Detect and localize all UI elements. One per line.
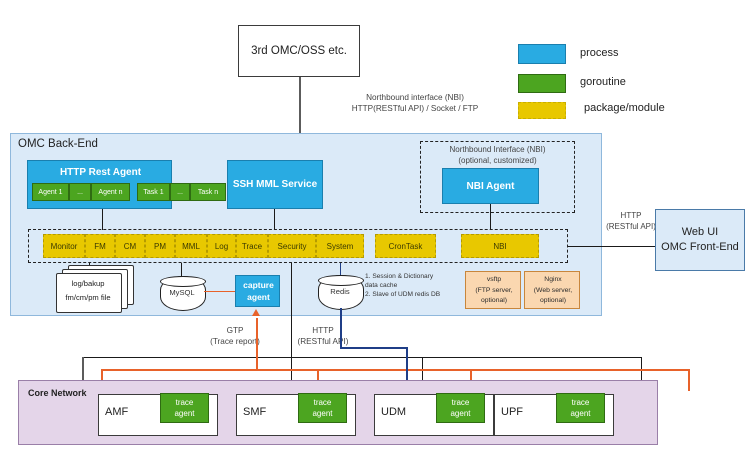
core-node-amf[interactable]: AMF trace agent <box>98 394 218 436</box>
capture-agent-box[interactable]: capture agent <box>235 275 280 307</box>
task-item-2[interactable]: Task n <box>190 183 226 201</box>
legend-label-process: process <box>580 47 619 59</box>
legend-swatch-process <box>518 44 566 64</box>
trace-agent-upf-line1: trace <box>570 397 590 408</box>
third-party-oms-box[interactable]: 3rd OMC/OSS etc. <box>238 25 360 77</box>
gtp-line2: (Trace report) <box>196 336 274 347</box>
nginx-line1: Nginx <box>525 275 581 286</box>
web-ui-line1: Web UI <box>661 225 739 240</box>
module-system[interactable]: System <box>316 234 364 258</box>
core-node-upf[interactable]: UPF trace agent <box>494 394 614 436</box>
redis-note-line3: 2. Slave of UDM redis DB <box>365 290 465 299</box>
mysql-to-capture-line <box>204 291 235 292</box>
trace-agent-udm-line2: agent <box>450 408 470 419</box>
core-node-amf-label: AMF <box>105 406 128 418</box>
logfile-line1: log/bakup <box>56 277 120 291</box>
http-link-line2: (RESTful API) <box>284 336 362 347</box>
core-node-smf-label: SMF <box>243 406 266 418</box>
legend-label-goroutine: goroutine <box>580 76 626 88</box>
nbi-group-caption: Northbound Interface (NBI) (optional, cu… <box>420 144 575 166</box>
trace-agent-udm-line1: trace <box>450 397 470 408</box>
module-mml[interactable]: MML <box>175 234 207 258</box>
trace-agent-smf[interactable]: trace agent <box>298 393 347 423</box>
web-ui-label: Web UI OMC Front-End <box>661 225 739 255</box>
module-nbi[interactable]: NBI <box>461 234 539 258</box>
omc-backend-title: OMC Back-End <box>18 138 98 150</box>
capture-agent-line2: agent <box>236 291 281 303</box>
trace-agent-amf-line1: trace <box>174 397 194 408</box>
nginx-box[interactable]: Nginx (Web server, optional) <box>524 271 580 309</box>
logfile-doc-stack: log/bakup fm/cm/pm file <box>56 265 134 313</box>
system-to-redis-line <box>340 263 341 275</box>
ssh-mml-service-label: SSH MML Service <box>233 179 317 190</box>
backend-trunk-vertical <box>291 263 292 358</box>
vsftp-line3: optional) <box>466 296 522 307</box>
redis-note-line2: data cache <box>365 281 465 290</box>
capture-agent-label: capture agent <box>236 279 281 303</box>
trace-agent-upf[interactable]: trace agent <box>556 393 605 423</box>
web-ui-box[interactable]: Web UI OMC Front-End <box>655 209 745 271</box>
vsftp-line2: (FTP server, <box>466 286 522 297</box>
capture-agent-arrow-stem <box>256 318 258 370</box>
trace-agent-smf-label: trace agent <box>312 397 332 419</box>
vsftp-box[interactable]: vsftp (FTP server, optional) <box>465 271 521 309</box>
http-rest-agent-box[interactable]: HTTP Rest Agent Agent 1 ... Agent n Task… <box>27 160 172 209</box>
task-item-0[interactable]: Task 1 <box>137 183 170 201</box>
gtp-trace-report-label: GTP (Trace report) <box>196 325 274 347</box>
backend-trunk-horizontal <box>82 357 642 358</box>
gtp-line1: GTP <box>196 325 274 336</box>
vsftp-label: vsftp (FTP server, optional) <box>466 275 522 307</box>
module-crontask[interactable]: CronTask <box>375 234 436 258</box>
nbi-agent-to-modules-line <box>490 204 491 230</box>
nbi-label-line2: HTTP(RESTful API) / Socket / FTP <box>300 103 530 114</box>
module-pm[interactable]: PM <box>145 234 175 258</box>
core-network-title: Core Network <box>28 388 87 398</box>
trace-agent-udm[interactable]: trace agent <box>436 393 485 423</box>
module-log[interactable]: Log <box>207 234 236 258</box>
trace-agent-upf-line2: agent <box>570 408 590 419</box>
northbound-interface-label: Northbound interface (NBI) HTTP(RESTful … <box>300 92 530 114</box>
nbi-agent-box[interactable]: NBI Agent <box>442 168 539 204</box>
trace-agent-amf[interactable]: trace agent <box>160 393 209 423</box>
redis-to-udm-horizontal <box>340 347 407 349</box>
module-to-mysql-line <box>181 263 182 276</box>
core-node-udm[interactable]: UDM trace agent <box>374 394 494 436</box>
nbi-label-line1: Northbound interface (NBI) <box>300 92 530 103</box>
nginx-line3: optional) <box>525 296 581 307</box>
task-item-1: ... <box>170 183 190 201</box>
mysql-label: MySQL <box>160 288 204 297</box>
trace-agent-amf-label: trace agent <box>174 397 194 419</box>
agent-item-2[interactable]: Agent n <box>91 183 130 201</box>
module-cm[interactable]: CM <box>115 234 145 258</box>
http-link-line1: HTTP <box>284 325 362 336</box>
ssh-mml-service-box[interactable]: SSH MML Service <box>227 160 323 209</box>
redis-label: Redis <box>318 287 362 296</box>
nbi-group-line2: (optional, customized) <box>420 155 575 166</box>
web-ui-line2: OMC Front-End <box>661 240 739 255</box>
core-node-upf-label: UPF <box>501 406 523 418</box>
trace-agent-upf-label: trace agent <box>570 397 590 419</box>
trace-drop-upf <box>688 369 690 391</box>
capture-agent-line1: capture <box>236 279 281 291</box>
trace-agent-amf-line2: agent <box>174 408 194 419</box>
agent-item-1: ... <box>69 183 91 201</box>
rest-agent-to-modules-line <box>102 209 103 230</box>
module-monitor[interactable]: Monitor <box>43 234 85 258</box>
third-party-oms-label: 3rd OMC/OSS etc. <box>251 45 347 57</box>
nginx-line2: (Web server, <box>525 286 581 297</box>
module-fm[interactable]: FM <box>85 234 115 258</box>
module-security[interactable]: Security <box>268 234 316 258</box>
core-node-smf[interactable]: SMF trace agent <box>236 394 356 436</box>
core-node-udm-label: UDM <box>381 406 406 418</box>
legend-label-module: package/module <box>584 102 665 114</box>
vsftp-line1: vsftp <box>466 275 522 286</box>
redis-note-line1: 1. Session & Dictionary <box>365 272 465 281</box>
trace-agent-smf-line1: trace <box>312 397 332 408</box>
nbi-agent-label: NBI Agent <box>467 181 515 192</box>
http-restful-label: HTTP (RESTful API) <box>284 325 362 347</box>
legend: process goroutine package/module <box>518 42 748 122</box>
nbi-group-line1: Northbound Interface (NBI) <box>420 144 575 155</box>
redis-note: 1. Session & Dictionary data cache 2. Sl… <box>365 272 465 299</box>
trace-agent-smf-line2: agent <box>312 408 332 419</box>
trace-agent-udm-label: trace agent <box>450 397 470 419</box>
logfile-label: log/bakup fm/cm/pm file <box>56 277 120 305</box>
trace-trunk-horizontal <box>101 369 690 371</box>
ssh-mml-to-modules-line <box>274 209 275 230</box>
capture-agent-arrow-head <box>252 309 260 316</box>
module-trace[interactable]: Trace <box>236 234 268 258</box>
http-rest-agent-title: HTTP Rest Agent <box>28 164 173 180</box>
modules-to-webui-line <box>568 246 656 247</box>
agent-item-0[interactable]: Agent 1 <box>32 183 69 201</box>
legend-swatch-goroutine <box>518 74 566 93</box>
logfile-line2: fm/cm/pm file <box>56 291 120 305</box>
nginx-label: Nginx (Web server, optional) <box>525 275 581 307</box>
redis-down-line <box>340 308 342 348</box>
